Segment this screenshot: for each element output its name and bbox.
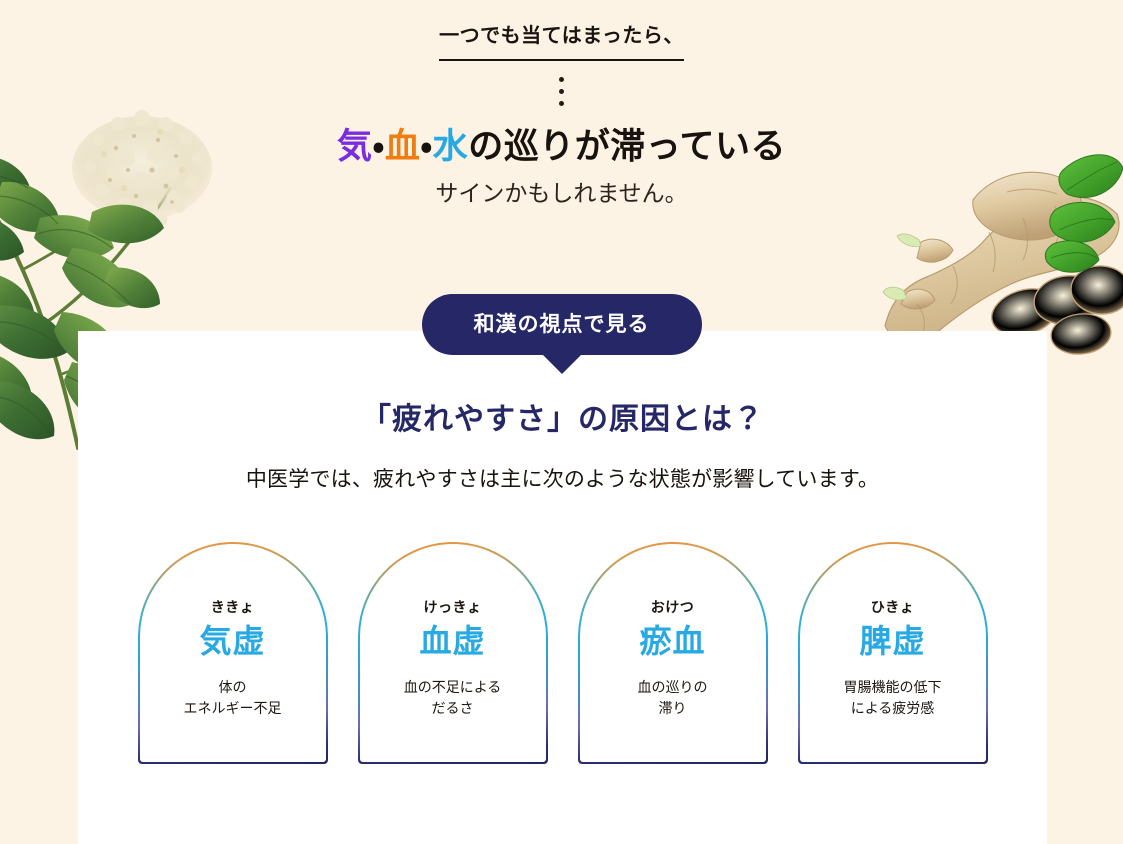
card-description: 血の巡りの 滞り <box>638 677 708 718</box>
cause-card-oketsu[interactable]: おけつ 瘀血 血の巡りの 滞り <box>578 542 768 764</box>
cream-left-gutter <box>0 331 78 844</box>
divider-dot <box>559 77 564 82</box>
panel-content: 「疲れやすさ」の原因とは？ 中医学では、疲れやすさは主に次のような状態が影響して… <box>78 331 1047 844</box>
card-title: 気虚 <box>199 625 265 657</box>
badge-wrapper: 和漢の視点で見る <box>0 294 1123 355</box>
card-gradient-frame: おけつ 瘀血 血の巡りの 滞り <box>578 542 768 764</box>
headline-part-sui: 水 <box>433 127 469 166</box>
card-gradient-frame: ききょ 気虚 体の エネルギー不足 <box>138 542 328 764</box>
headline-part-tail: の巡りが滞っている <box>468 127 786 166</box>
card-description: 体の エネルギー不足 <box>184 677 282 718</box>
card-ruby: ひきょ <box>871 600 915 614</box>
wakan-perspective-badge[interactable]: 和漢の視点で見る <box>422 294 702 355</box>
headline-part-ketsu: 血 <box>385 127 421 166</box>
divider-dot <box>559 89 564 94</box>
card-inner: ききょ 気虚 体の エネルギー不足 <box>140 544 326 762</box>
headline-subtext: サインかもしれません。 <box>0 178 1123 209</box>
cause-cards-row: ききょ 気虚 体の エネルギー不足 けっきょ 血虚 血の不足による だるさ おけ… <box>78 542 1047 764</box>
cream-right-gutter <box>1047 331 1123 844</box>
card-ruby: けっきょ <box>424 600 482 614</box>
panel-subtitle: 中医学では、疲れやすさは主に次のような状態が影響しています。 <box>78 465 1047 494</box>
vertical-dots-divider <box>557 77 567 106</box>
card-title: 脾虚 <box>859 625 925 657</box>
cause-card-kikyo[interactable]: ききょ 気虚 体の エネルギー不足 <box>138 542 328 764</box>
card-description: 血の不足による だるさ <box>404 677 502 718</box>
cause-card-hikyo[interactable]: ひきょ 脾虚 胃腸機能の低下 による疲労感 <box>798 542 988 764</box>
eyebrow-text: 一つでも当てはまったら、 <box>439 23 684 61</box>
card-gradient-frame: ひきょ 脾虚 胃腸機能の低下 による疲労感 <box>798 542 988 764</box>
card-gradient-frame: けっきょ 血虚 血の不足による だるさ <box>358 542 548 764</box>
card-ruby: ききょ <box>211 600 255 614</box>
headline-separator: ・ <box>420 127 432 166</box>
headline-part-ki: 気 <box>337 127 373 166</box>
card-description: 胃腸機能の低下 による疲労感 <box>844 677 942 718</box>
headline-separator: ・ <box>372 127 384 166</box>
divider-dot <box>559 101 564 106</box>
cause-card-kekkyo[interactable]: けっきょ 血虚 血の不足による だるさ <box>358 542 548 764</box>
card-title: 血虚 <box>419 625 485 657</box>
card-ruby: おけつ <box>651 600 695 614</box>
card-title: 瘀血 <box>639 625 705 657</box>
badge-label: 和漢の視点で見る <box>474 313 650 336</box>
panel-title: 「疲れやすさ」の原因とは？ <box>78 400 1047 439</box>
card-inner: おけつ 瘀血 血の巡りの 滞り <box>580 544 766 762</box>
intro-block: 一つでも当てはまったら、 気・血・水の巡りが滞っている サインかもしれません。 <box>0 0 1123 209</box>
headline: 気・血・水の巡りが滞っている <box>0 124 1123 170</box>
badge-pointer-triangle <box>541 353 583 374</box>
card-inner: ひきょ 脾虚 胃腸機能の低下 による疲労感 <box>800 544 986 762</box>
eyebrow-wrapper: 一つでも当てはまったら、 <box>0 0 1123 61</box>
card-inner: けっきょ 血虚 血の不足による だるさ <box>360 544 546 762</box>
